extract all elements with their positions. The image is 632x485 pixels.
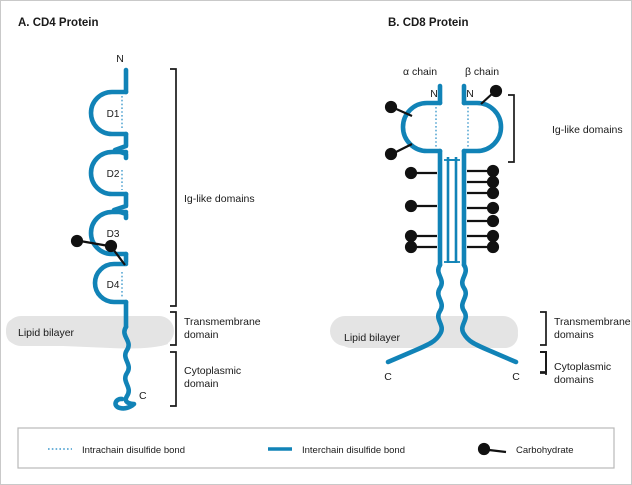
bracket-transmembrane [540,312,546,345]
carbohydrate-icon [467,177,498,187]
panel-b-bracket-cytoplasmic [540,352,546,373]
figure-canvas: A. CD4 Protein Lipid bilayer [0,0,632,485]
cd8-alpha-stalk-carbohydrates [406,168,437,252]
cd4-domain-d1-label: D1 [107,109,120,120]
cd8-intrachain-bonds [436,107,468,147]
cd8-alpha-c-terminus-label: C [384,371,392,383]
panel-a-brackets [170,69,176,406]
carbohydrate-icon [467,231,498,241]
panel-b-title: B. CD8 Protein [388,17,469,29]
panel-a-title: A. CD4 Protein [18,17,99,29]
cd4-c-terminus-label: C [139,390,147,402]
cd8-alpha-n-terminus-label: N [430,88,438,100]
cd8-beta-chain-label: β chain [465,66,499,78]
carbohydrate-icon [406,242,437,252]
carbohydrate-icon [481,86,501,104]
cd8-alpha-chain-label: α chain [403,66,437,78]
legend-label-carbohydrate: Carbohydrate [516,445,574,456]
cd4-domain-d4-label: D4 [107,280,120,291]
panel-b-transmembrane-label-line1: Transmembrane [554,316,631,328]
cd8-beta-domain-carbohydrates [481,86,501,104]
panel-b-bilayer-label: Lipid bilayer [344,332,401,344]
panel-a-bilayer-label: Lipid bilayer [18,327,75,339]
panel-b-cytoplasmic-label-line2: domains [554,374,594,386]
carbohydrate-icon [467,203,498,213]
panel-b-ig-like-label: Ig-like domains [552,124,623,136]
carbohydrate-icon [386,144,412,159]
cd8-beta-c-terminus-label: C [512,371,520,383]
carbohydrate-icon [467,216,498,226]
panel-a-cytoplasmic-label-line1: Cytoplasmic [184,365,241,377]
cd8-beta-n-terminus-label: N [466,88,474,100]
panel-b-cytoplasmic-label-line1: Cytoplasmic [554,361,611,373]
carbohydrate-icon [406,231,437,241]
legend-label-intrachain: Intrachain disulfide bond [82,445,185,456]
carbohydrate-icon [467,188,498,198]
cd4-domain-d3-label: D3 [107,229,120,240]
carbohydrate-icon [467,166,498,176]
cd4-domain-d2-label: D2 [107,169,120,180]
bracket-ig-like [170,69,176,306]
cd8-beta-stalk-carbohydrates [467,166,498,252]
panel-a-transmembrane-label-line1: Transmembrane [184,316,261,328]
cd4-n-terminus-label: N [116,53,124,65]
carbohydrate-icon [406,168,437,178]
cd8-interchain-bonds [444,160,460,262]
bracket-cytoplasmic [170,352,176,406]
carbohydrate-icon [406,201,437,211]
panel-a-ig-like-label: Ig-like domains [184,193,255,205]
carbohydrate-icon [467,242,498,252]
bracket-ig-like [508,95,514,162]
legend-label-interchain: Interchain disulfide bond [302,445,405,456]
panel-a-cytoplasmic-label-line2: domain [184,378,219,390]
panel-b-transmembrane-label-line2: domains [554,329,594,341]
panel-a-transmembrane-label-line2: domain [184,329,219,341]
